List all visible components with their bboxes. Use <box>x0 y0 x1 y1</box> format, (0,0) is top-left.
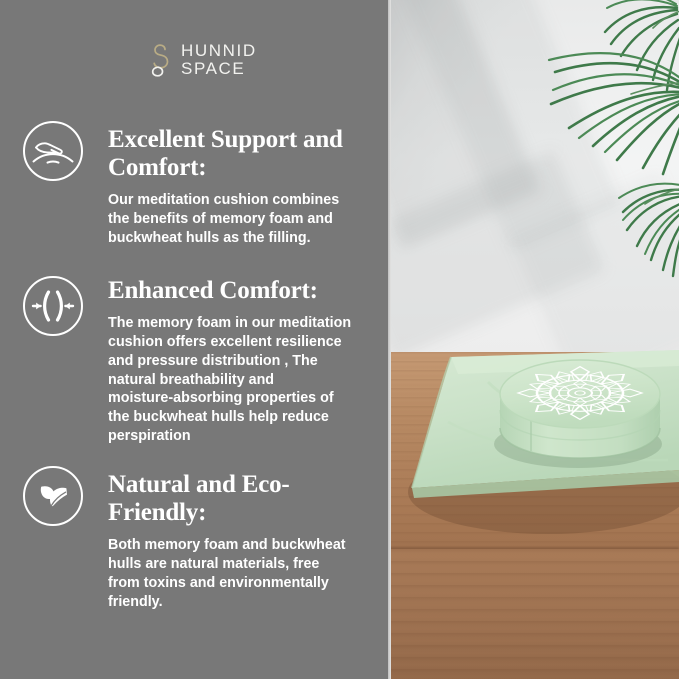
brand-logo: HUNNID SPACE <box>148 42 257 78</box>
feature-panel: HUNNID SPACE Excellent Support and Comfo… <box>0 0 388 679</box>
brand-line-1: HUNNID <box>181 42 257 60</box>
feature-text-block: Natural and Eco-Friendly: Both memory fo… <box>108 471 374 611</box>
hand-support-icon <box>22 120 84 182</box>
feature-description: Our meditation cushion combines the bene… <box>108 191 374 248</box>
feature-title: Natural and Eco-Friendly: <box>108 471 374 527</box>
feature-description: The memory foam in our meditation cushio… <box>108 314 374 446</box>
compression-arrows-icon <box>22 275 84 337</box>
product-infographic: HUNNID SPACE Excellent Support and Comfo… <box>0 0 679 679</box>
feature-text-block: Enhanced Comfort: The memory foam in our… <box>108 277 374 446</box>
meditation-cushion-product-photo <box>388 0 679 679</box>
feature-text-block: Excellent Support and Comfort: Our medit… <box>108 126 374 248</box>
feature-title: Enhanced Comfort: <box>108 277 374 305</box>
swirl-s-monogram-icon <box>148 43 174 77</box>
wooden-table-front <box>388 549 679 679</box>
feature-title: Excellent Support and Comfort: <box>108 126 374 182</box>
leaf-eco-icon <box>22 465 84 527</box>
feature-description: Both memory foam and buckwheat hulls are… <box>108 536 374 611</box>
photo-left-edge <box>388 0 391 679</box>
meditation-set <box>388 352 679 552</box>
palm-plant <box>505 0 679 292</box>
brand-wordmark: HUNNID SPACE <box>181 42 257 78</box>
brand-line-2: SPACE <box>181 60 257 78</box>
